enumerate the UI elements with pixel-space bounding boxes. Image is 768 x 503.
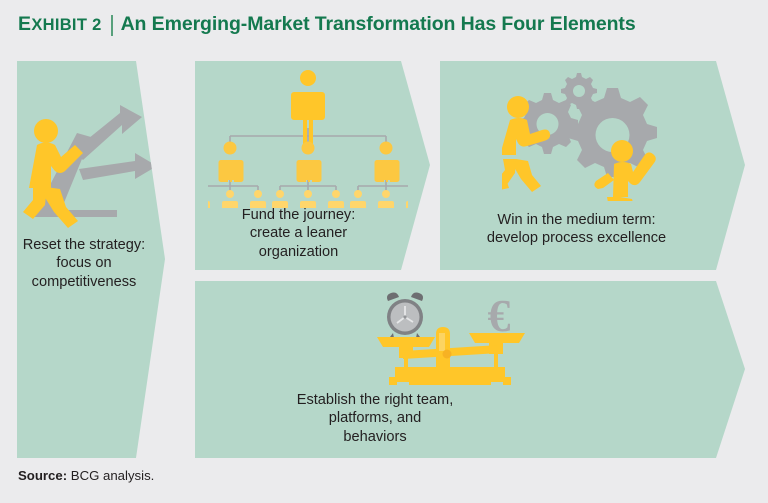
panel-win-medium-term[interactable]: Win in the medium term: develop process …: [440, 61, 745, 270]
org-chart-hierarchy-icon: [208, 68, 408, 208]
alarm-clock-icon: [387, 293, 423, 339]
panel-win-label: Win in the medium term: develop process …: [440, 211, 713, 248]
exhibit-root: EXHIBIT 2 An Emerging-Market Transformat…: [0, 0, 768, 503]
exhibit-number-text: XHIBIT 2: [31, 16, 101, 34]
source-text: BCG analysis.: [67, 468, 154, 483]
panel-reset-strategy[interactable]: Reset the strategy: focus on competitive…: [17, 61, 165, 458]
panel-establish-label: Establish the right team, platforms, and…: [195, 391, 555, 446]
panel-fund-label: Fund the journey: create a leaner organi…: [197, 206, 400, 261]
panel-reset-label: Reset the strategy: focus on competitive…: [21, 236, 147, 291]
page-title: An Emerging-Market Transformation Has Fo…: [121, 13, 636, 36]
exhibit-number-label: EXHIBIT 2: [18, 13, 102, 36]
two-people-with-gears-icon: [502, 71, 702, 201]
exhibit-title-bar: EXHIBIT 2 An Emerging-Market Transformat…: [18, 9, 748, 39]
panel-establish-team[interactable]: € Establis: [195, 281, 745, 458]
title-divider-icon: [111, 15, 113, 36]
source-note: Source: BCG analysis.: [18, 468, 154, 483]
panel-fund-journey[interactable]: Fund the journey: create a leaner organi…: [195, 61, 430, 270]
balance-scale-clock-euro-icon: €: [375, 289, 525, 389]
source-label: Source:: [18, 468, 67, 483]
